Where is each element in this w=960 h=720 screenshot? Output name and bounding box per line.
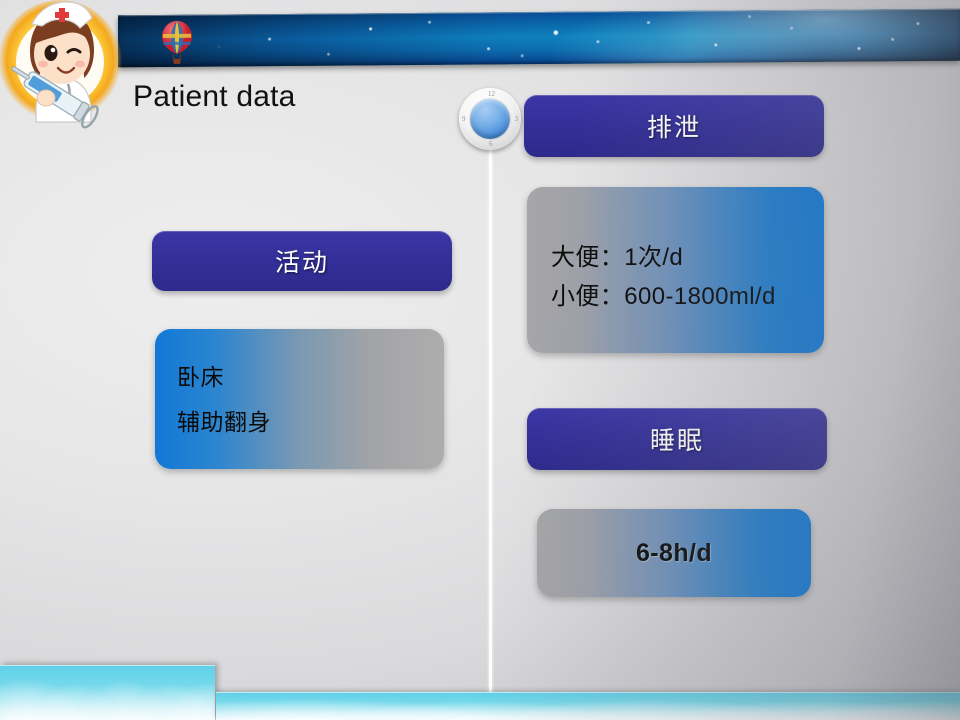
section-header-excretion[interactable]: 排泄 <box>524 95 824 157</box>
excretion-line-1: 大便：1次/d <box>551 239 824 278</box>
clock-node-icon[interactable]: 12 3 6 9 <box>459 88 521 150</box>
stars-overlay <box>118 9 960 68</box>
clock-tick-3: 3 <box>515 115 519 123</box>
vertical-connector-line <box>489 150 492 720</box>
clock-tick-12: 12 <box>488 90 495 98</box>
clock-tick-9: 9 <box>462 115 466 123</box>
activity-line-1: 卧床 <box>177 355 444 400</box>
section-card-excretion: 大便：1次/d 小便：600-1800ml/d <box>527 187 824 353</box>
page-title: Patient data <box>133 80 296 114</box>
starry-sky-banner <box>118 9 960 68</box>
hot-air-balloon-icon <box>160 19 194 65</box>
excretion-line-2: 小便：600-1800ml/d <box>551 278 824 317</box>
clock-tick-6: 6 <box>489 140 493 148</box>
cloud-band-left <box>0 665 215 720</box>
nurse-with-syringe-icon <box>0 0 128 134</box>
section-header-sleep[interactable]: 睡眠 <box>527 408 827 470</box>
section-card-sleep: 6-8h/d <box>537 509 811 597</box>
section-header-activity[interactable]: 活动 <box>152 231 452 291</box>
activity-line-2: 辅助翻身 <box>177 400 444 445</box>
cloud-band-right <box>216 692 960 720</box>
clock-node-center <box>470 99 510 139</box>
section-card-activity: 卧床 辅助翻身 <box>155 329 444 469</box>
slide-canvas: Patient data 12 3 6 9 排泄 大便：1次/d 小便：600-… <box>0 0 960 720</box>
